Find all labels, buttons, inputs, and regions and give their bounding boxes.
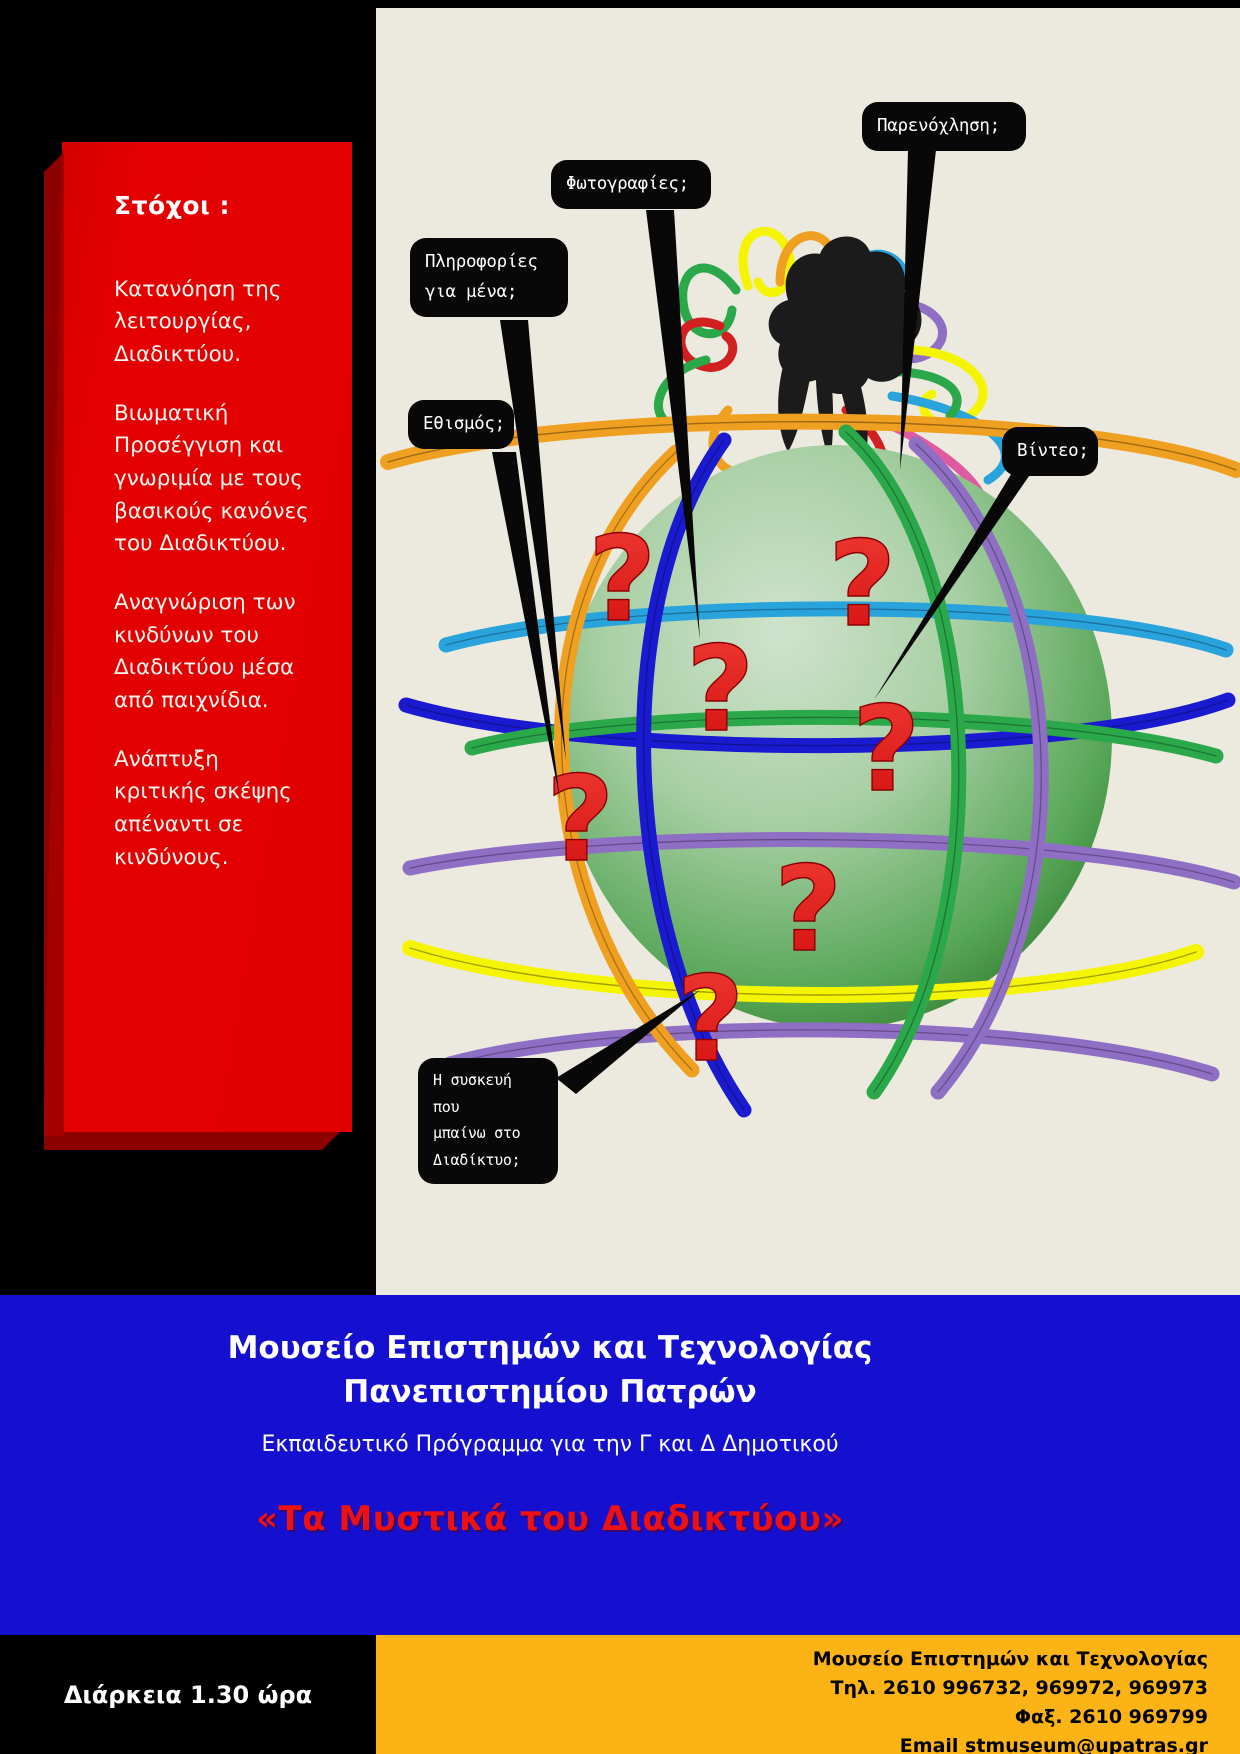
tail-fotografies <box>646 210 700 640</box>
bubble-vinteo[interactable]: Βίντεο; <box>1002 427 1098 476</box>
tail-syskevi <box>556 990 700 1094</box>
program-title: «Τα Μυστικά του Διαδικτύου» <box>0 1457 1100 1539</box>
museum-title-line2: Πανεπιστημίου Πατρών <box>0 1369 1100 1413</box>
tail-vinteo <box>874 466 1036 700</box>
tail-parenochlisi <box>900 150 936 470</box>
bubble-plirofories[interactable]: Πληροφορίες για μένα; <box>410 238 568 317</box>
duration-label: Διάρκεια 1.30 ώρα <box>0 1635 376 1754</box>
footer-blue-band: Μουσείο Επιστημών και Τεχνολογίας Πανεπι… <box>0 1295 1240 1635</box>
bubble-syskevi[interactable]: Η συσκευή που μπαίνω στο Διαδίκτυο; <box>418 1058 558 1184</box>
contact-email[interactable]: Email stmuseum@upatras.gr <box>813 1732 1208 1754</box>
bubble-fotografies[interactable]: Φωτογραφίες; <box>551 160 711 209</box>
contact-museum: Μουσείο Επιστημών και Τεχνολογίας <box>813 1645 1208 1674</box>
contact-phone: Τηλ. 2610 996732, 969972, 969973 <box>813 1674 1208 1703</box>
program-title-text: «Τα Μυστικά του Διαδικτύου» <box>256 1499 844 1539</box>
museum-title-line1: Μουσείο Επιστημών και Τεχνολογίας <box>0 1295 1100 1369</box>
program-subtitle: Εκπαιδευτικό Πρόγραμμα για την Γ και Δ Δ… <box>0 1412 1100 1457</box>
contact-block: Μουσείο Επιστημών και Τεχνολογίας Τηλ. 2… <box>813 1645 1208 1754</box>
bubble-parenochlisi[interactable]: Παρενόχληση; <box>862 102 1026 151</box>
poster-root: ? ? ? ? ? ? ? Παρενόχληση; Φωτογραφίες; … <box>0 0 1240 1754</box>
contact-fax: Φαξ. 2610 969799 <box>813 1703 1208 1732</box>
bubble-ethismos[interactable]: Εθισμός; <box>408 400 514 449</box>
